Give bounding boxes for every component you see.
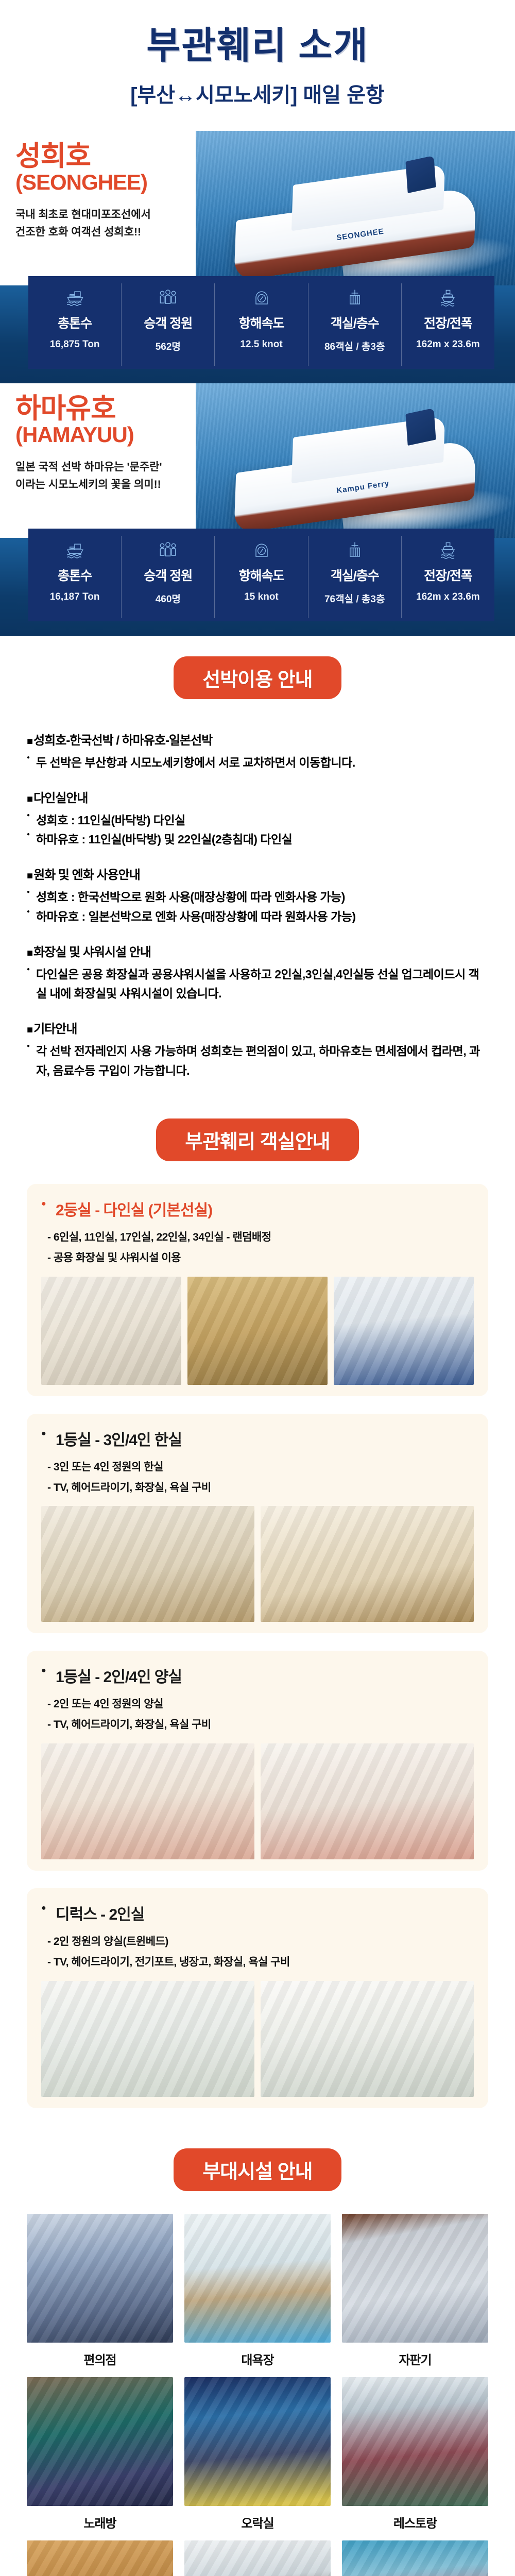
- guide-item: 하마유호 : 11인실(바닥방) 및 22인실(2층침대) 다인실: [27, 830, 488, 849]
- spec-cell-cabins-decks: 객실/층수 76객실 / 총3층: [308, 536, 402, 618]
- cabin-photo: [187, 1277, 328, 1385]
- cabin-photo: [41, 1506, 254, 1622]
- cabin-card-bullet: - 2인 정원의 양실(트윈베드): [41, 1931, 474, 1952]
- cabin-photo: [41, 1981, 254, 2097]
- spec-cell-sailing-speed: 항해속도 12.5 knot: [215, 283, 308, 366]
- facility-photo: [184, 2377, 331, 2506]
- facility-photo: [184, 2540, 331, 2576]
- facility-item-convenience-store: 편의점: [27, 2214, 173, 2368]
- spec-cell-cabins-decks: 객실/층수 86객실 / 총3층: [308, 283, 402, 366]
- ship-block-hamayuu: Kampu Ferry 하마유호 (HAMAYUU) 일본 국적 선박 하마유는…: [0, 383, 515, 625]
- spec-value: 16,187 Ton: [50, 591, 100, 603]
- usage-guide: 성희호-한국선박 / 하마유호-일본선박 두 선박은 부산항과 시모노세키항에서…: [0, 730, 515, 1080]
- passengers-icon: [157, 286, 179, 310]
- ship-block-seonghee: SEONGHEE 성희호 (SEONGHEE) 국내 최초로 현대미포조선에서 …: [0, 131, 515, 373]
- guide-item: 각 선박 전자레인지 사용 가능하며 성희호는 편의점이 있고, 하마유호는 면…: [27, 1042, 488, 1080]
- cabin-card-bullet: - 3인 또는 4인 정원의 한실: [41, 1457, 474, 1478]
- cabin-card-bullet: - TV, 헤어드라이기, 화장실, 욕실 구비: [41, 1478, 474, 1498]
- facility-label: 노래방: [27, 2513, 173, 2531]
- facility-photo: [184, 2214, 331, 2343]
- cabin-card-bullet: - 공용 화장실 및 샤워시설 이용: [41, 1248, 474, 1268]
- ferry-front-icon: [437, 539, 459, 563]
- container-icon: [344, 539, 366, 563]
- spec-value: 562명: [156, 339, 181, 353]
- facility-label: 자판기: [342, 2350, 488, 2368]
- guide-heading: 기타안내: [27, 1019, 488, 1037]
- ship-info-hamayuu: 하마유호 (HAMAYUU) 일본 국적 선박 하마유는 '문주란' 이라는 시…: [10, 389, 196, 494]
- cargo-ship-icon: [63, 286, 86, 310]
- ship-spec-band-hamayuu: 총톤수 16,187 Ton 승객 정원 460명 항해속도 15 knot 객…: [28, 529, 494, 621]
- ship-name-ko: 하마유호: [15, 395, 196, 422]
- cabin-photo: [261, 1981, 474, 2097]
- facility-photo: [342, 2214, 488, 2343]
- cabin-photo-row: [41, 1506, 474, 1622]
- spec-label: 객실/층수: [331, 566, 379, 584]
- cabin-photo: [334, 1277, 474, 1385]
- facility-label: 대욕장: [184, 2350, 331, 2368]
- spec-value: 15 knot: [244, 591, 279, 603]
- spec-label: 객실/층수: [331, 313, 379, 332]
- facility-item-cafe: 카페: [184, 2540, 331, 2576]
- guide-group: 원화 및 엔화 사용안내 성희호 : 한국선박으로 원화 사용(매장상황에 따라…: [27, 865, 488, 926]
- spec-cell-length-beam: 전장/전폭 162m x 23.6m: [402, 536, 494, 618]
- spec-value: 76객실 / 총3층: [324, 591, 385, 605]
- cabin-card-bullet: - 2인 또는 4인 정원의 양실: [41, 1694, 474, 1715]
- cabin-card-title: 1등실 - 2인/4인 양실: [41, 1664, 474, 1687]
- ship-description: 일본 국적 선박 하마유는 '문주란' 이라는 시모노세키의 꽃을 의미!!: [15, 459, 196, 494]
- ship-name-en: (SEONGHEE): [15, 170, 196, 195]
- page-title: 부관훼리 소개: [0, 27, 515, 66]
- spec-label: 전장/전폭: [424, 313, 472, 332]
- cabin-card-first-class-western: 1등실 - 2인/4인 양실 - 2인 또는 4인 정원의 양실 - TV, 헤…: [27, 1651, 488, 1871]
- cabin-card-bullet: - TV, 헤어드라이기, 화장실, 욕실 구비: [41, 1715, 474, 1735]
- spec-label: 승객 정원: [144, 313, 192, 332]
- guide-heading: 다인실안내: [27, 788, 488, 806]
- cabin-card-first-class-korean: 1등실 - 3인/4인 한실 - 3인 또는 4인 정원의 한실 - TV, 헤…: [27, 1414, 488, 1634]
- spec-label: 항해속도: [239, 313, 284, 332]
- section-heading-cabin: 부관훼리 객실안내: [156, 1118, 358, 1161]
- facility-item-arcade: 오락실: [184, 2377, 331, 2531]
- guide-group: 성희호-한국선박 / 하마유호-일본선박 두 선박은 부산항과 시모노세키항에서…: [27, 730, 488, 772]
- section-heading-facility: 부대시설 안내: [174, 2148, 341, 2191]
- spec-label: 총톤수: [58, 566, 92, 584]
- container-icon: [344, 286, 366, 310]
- guide-item: 성희호 : 한국선박으로 원화 사용(매장상황에 따라 엔화사용 가능): [27, 888, 488, 907]
- cabin-photo: [41, 1277, 181, 1385]
- cabin-pill-wrap: 부관훼리 객실안내: [0, 1118, 515, 1161]
- guide-item: 하마유호 : 일본선박으로 엔화 사용(매장상황에 따라 원화사용 가능): [27, 907, 488, 926]
- cabin-card-bullet: - TV, 헤어드라이기, 전기포트, 냉장고, 화장실, 욕실 구비: [41, 1952, 474, 1973]
- cabin-photo: [261, 1743, 474, 1859]
- guide-group: 화장실 및 샤워시설 안내 다인실은 공용 화장실과 공용샤워시설을 사용하고 …: [27, 942, 488, 1004]
- spec-cell-passenger-capacity: 승객 정원 460명: [122, 536, 215, 618]
- spec-label: 항해속도: [239, 566, 284, 584]
- spec-cell-total-tonnage: 총톤수 16,875 Ton: [28, 283, 122, 366]
- ship-name-en: (HAMAYUU): [15, 422, 196, 447]
- facility-pill-wrap: 부대시설 안내: [0, 2148, 515, 2191]
- guide-group: 다인실안내 성희호 : 11인실(바닥방) 다인실 하마유호 : 11인실(바닥…: [27, 788, 488, 850]
- facility-item-grill: 그릴: [27, 2540, 173, 2576]
- speed-gauge-icon: [250, 539, 273, 563]
- spec-cell-total-tonnage: 총톤수 16,187 Ton: [28, 536, 122, 618]
- ship-name-ko: 성희호: [15, 142, 196, 170]
- cabin-photo-row: [41, 1743, 474, 1859]
- passengers-icon: [157, 539, 179, 563]
- facility-photo: [342, 2377, 488, 2506]
- ship-funnel: [406, 156, 436, 193]
- ship-spec-band-seonghee: 총톤수 16,875 Ton 승객 정원 562명 항해속도 12.5 knot…: [28, 276, 494, 369]
- facility-item-public-bath: 대욕장: [184, 2214, 331, 2368]
- facility-photo: [27, 2377, 173, 2506]
- facility-photo: [342, 2540, 488, 2576]
- spec-value: 86객실 / 총3층: [324, 339, 385, 353]
- facility-item-restaurant: 레스토랑: [342, 2377, 488, 2531]
- cabin-card-deluxe: 디럭스 - 2인실 - 2인 정원의 양실(트윈베드) - TV, 헤어드라이기…: [27, 1888, 488, 2108]
- spec-value: 12.5 knot: [240, 339, 282, 350]
- cargo-ship-icon: [63, 539, 86, 563]
- cabin-card-second-class: 2등실 - 다인실 (기본선실) - 6인실, 11인실, 17인실, 22인실…: [27, 1184, 488, 1396]
- page-subtitle: [부산↔시모노세키] 매일 운항: [0, 78, 515, 108]
- guide-item: 다인실은 공용 화장실과 공용샤워시설을 사용하고 2인실,3인실,4인실등 선…: [27, 965, 488, 1004]
- ship-funnel: [406, 408, 436, 446]
- spec-cell-passenger-capacity: 승객 정원 562명: [122, 283, 215, 366]
- facility-label: 레스토랑: [342, 2513, 488, 2531]
- cabin-card-title: 1등실 - 3인/4인 한실: [41, 1427, 474, 1450]
- guide-item: 두 선박은 부산항과 시모노세키항에서 서로 교차하면서 이동합니다.: [27, 753, 488, 772]
- page-hero: 부관훼리 소개 [부산↔시모노세키] 매일 운항: [0, 0, 515, 108]
- spec-value: 162m x 23.6m: [416, 339, 480, 350]
- facility-photo: [27, 2214, 173, 2343]
- facility-photo: [27, 2540, 173, 2576]
- cabin-photo-row: [41, 1981, 474, 2097]
- cabin-card-title: 2등실 - 다인실 (기본선실): [41, 1197, 474, 1220]
- speed-gauge-icon: [250, 286, 273, 310]
- guide-heading: 화장실 및 샤워시설 안내: [27, 942, 488, 960]
- spec-label: 승객 정원: [144, 566, 192, 584]
- usage-pill-wrap: 선박이용 안내: [0, 656, 515, 699]
- cabin-card-title: 디럭스 - 2인실: [41, 1902, 474, 1924]
- facility-item-vending-machine: 자판기: [342, 2214, 488, 2368]
- facility-grid: 편의점 대욕장 자판기 노래방 오락실 레스토랑 그릴 카페 멀티홀: [0, 2214, 515, 2576]
- facility-label: 편의점: [27, 2350, 173, 2368]
- cabin-card-bullet: - 6인실, 11인실, 17인실, 22인실, 34인실 - 랜덤배정: [41, 1227, 474, 1248]
- cabin-photo: [261, 1506, 474, 1622]
- facility-label: 오락실: [184, 2513, 331, 2531]
- spec-cell-sailing-speed: 항해속도 15 knot: [215, 536, 308, 618]
- ferry-front-icon: [437, 286, 459, 310]
- ship-info-seonghee: 성희호 (SEONGHEE) 국내 최초로 현대미포조선에서 건조한 호화 여객…: [10, 137, 196, 241]
- cabin-photo-row: [41, 1277, 474, 1385]
- ship-description: 국내 최초로 현대미포조선에서 건조한 호화 여객선 성희호!!: [15, 206, 196, 241]
- guide-heading: 성희호-한국선박 / 하마유호-일본선박: [27, 730, 488, 748]
- spec-label: 총톤수: [58, 313, 92, 332]
- spec-value: 460명: [156, 591, 181, 605]
- guide-group: 기타안내 각 선박 전자레인지 사용 가능하며 성희호는 편의점이 있고, 하마…: [27, 1019, 488, 1080]
- guide-heading: 원화 및 엔화 사용안내: [27, 865, 488, 883]
- spec-label: 전장/전폭: [424, 566, 472, 584]
- spec-cell-length-beam: 전장/전폭 162m x 23.6m: [402, 283, 494, 366]
- spec-value: 16,875 Ton: [50, 339, 100, 350]
- spec-value: 162m x 23.6m: [416, 591, 480, 603]
- guide-item: 성희호 : 11인실(바닥방) 다인실: [27, 811, 488, 830]
- section-heading-usage: 선박이용 안내: [174, 656, 341, 699]
- cabin-photo: [41, 1743, 254, 1859]
- facility-item-multi-hall: 멀티홀: [342, 2540, 488, 2576]
- facility-item-karaoke: 노래방: [27, 2377, 173, 2531]
